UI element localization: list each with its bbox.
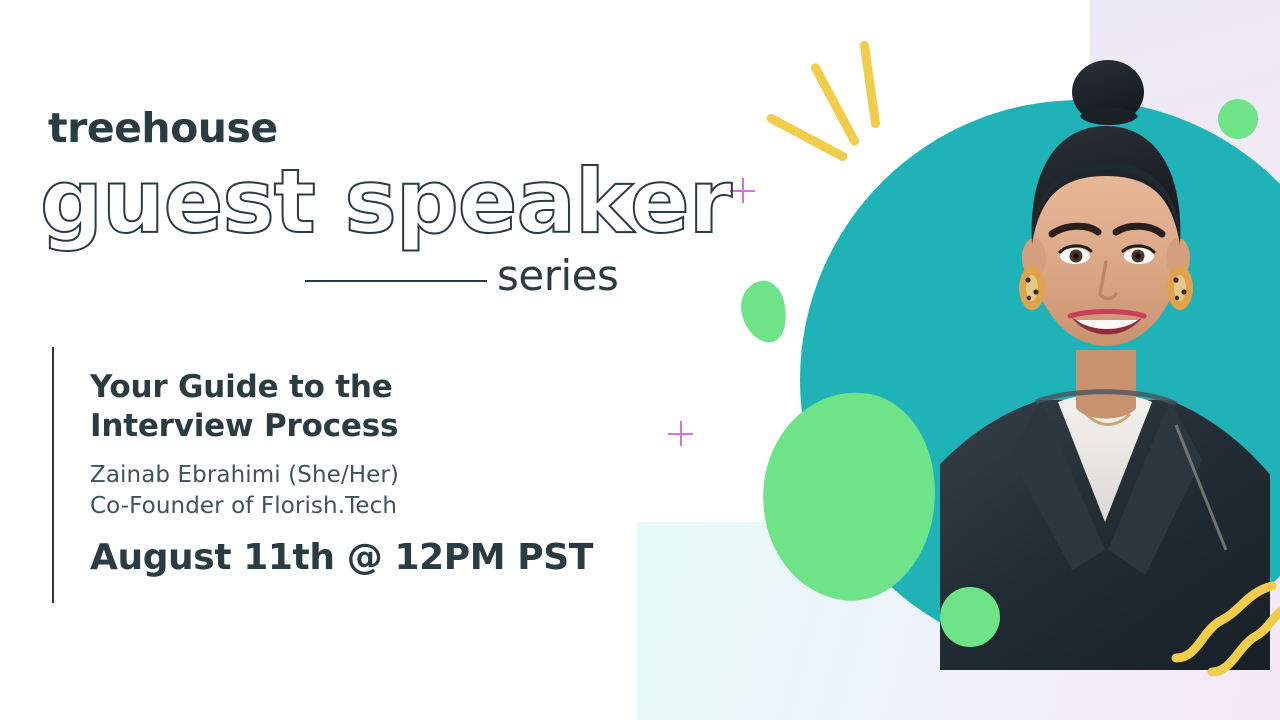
yellow-ray-1-icon [765,112,849,162]
yellow-ray-3-icon [859,40,880,128]
promo-slide: treehouse guest speaker series Your Guid… [0,0,1280,720]
green-dot-bottom-icon [940,587,1000,647]
talk-title-line-2: Interview Process [90,408,398,444]
green-blob-small-icon [735,277,793,348]
yellow-ray-2-icon [809,62,860,147]
details-vertical-rule [52,347,54,603]
yellow-squiggles-icon [1168,572,1280,682]
series-label: series [497,255,618,297]
speaker-role: Co-Founder of Florish.Tech [90,491,610,522]
treehouse-wordmark: treehouse [48,108,278,149]
series-divider-rule [305,280,487,282]
speaker-name: Zainab Ebrahimi (She/Her) [90,460,610,491]
event-datetime: August 11th @ 12PM PST [90,540,610,576]
headline-outlined: guest speaker [40,158,731,246]
talk-title: Your Guide to the Interview Process [90,368,610,446]
plus-mark-upper-icon [730,178,755,203]
plus-mark-lower-icon [668,421,693,446]
event-details: Your Guide to the Interview Process Zain… [90,368,610,576]
talk-title-line-1: Your Guide to the [90,369,393,405]
